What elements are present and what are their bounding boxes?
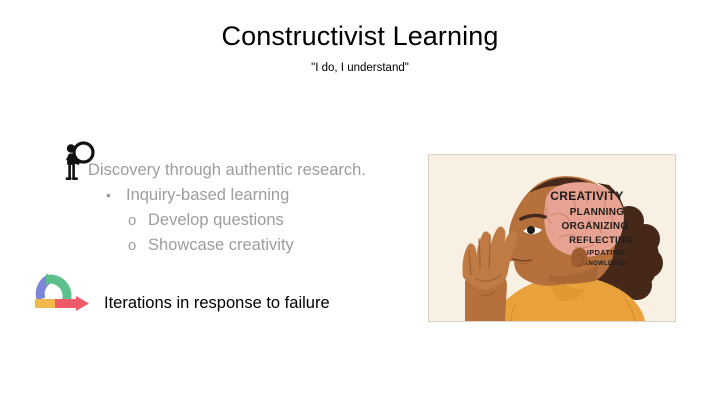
list-item: Discovery through authentic research. [88, 158, 428, 183]
slide-canvas: Constructivist Learning "I do, I underst… [0, 0, 720, 405]
bullet-list: Discovery through authentic research. •I… [88, 158, 428, 258]
list-item: •Inquiry-based learning [106, 183, 428, 208]
brain-label: UPDATING [583, 248, 624, 257]
brain-label: KNOWLEDGE [584, 261, 626, 267]
cycle-arrow-icon [32, 266, 90, 318]
bullet-marker: o [128, 233, 148, 258]
brain-label: REFLECTING [569, 235, 633, 246]
list-item: oDevelop questions [128, 208, 428, 233]
bullet-text: Inquiry-based learning [126, 186, 289, 204]
brain-label: ORGANIZING [562, 221, 629, 232]
bullet-text: Develop questions [148, 211, 284, 229]
brain-label: PLANNING [570, 207, 625, 218]
page-title: Constructivist Learning [0, 20, 720, 53]
bullet-text: Discovery through authentic research. [88, 161, 366, 179]
brain-label: CREATIVITY [550, 189, 623, 203]
page-subtitle: "I do, I understand" [0, 60, 720, 76]
bullet-text: Showcase creativity [148, 236, 294, 254]
bullet-marker: • [106, 183, 126, 208]
bullet-marker: o [128, 208, 148, 233]
woman-thinking-brain-illustration: CREATIVITY PLANNING ORGANIZING REFLECTIN… [428, 154, 676, 322]
iteration-text: Iterations in response to failure [104, 291, 330, 315]
list-item: oShowcase creativity [128, 233, 428, 258]
